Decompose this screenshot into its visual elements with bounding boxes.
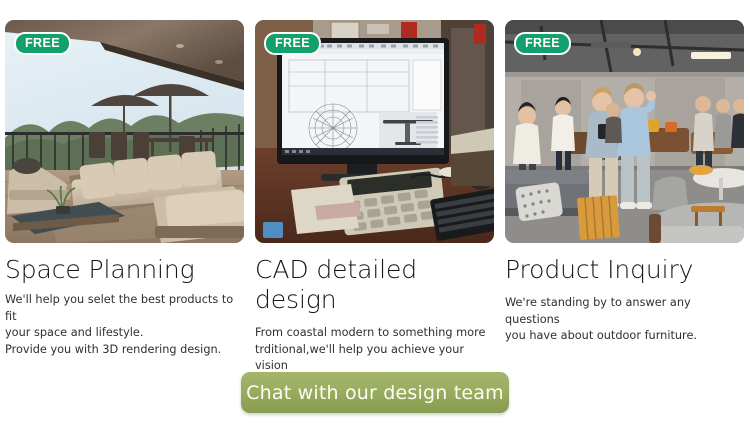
badge-free: FREE xyxy=(514,32,571,55)
card-title: Space Planning xyxy=(5,255,244,285)
cta-container: Chat with our design team xyxy=(0,372,750,413)
card-description-line: From coastal modern to something more xyxy=(255,325,494,342)
service-card-cad-design[interactable]: FREE CAD detailed design From coastal mo… xyxy=(255,20,494,375)
card-description: We're standing by to answer any question… xyxy=(505,295,744,345)
card-description: We'll help you selet the best products t… xyxy=(5,292,244,358)
chat-with-design-team-button[interactable]: Chat with our design team xyxy=(241,372,509,413)
card-image-cad-design: FREE xyxy=(255,20,494,243)
service-card-space-planning[interactable]: FREE Space Planning We'll help you selet… xyxy=(5,20,244,375)
card-image-space-planning: FREE xyxy=(5,20,244,243)
card-description-line: trditional,we'll help you achieve your v… xyxy=(255,342,494,375)
card-description-line: you have about outdoor furniture. xyxy=(505,328,744,345)
card-description-line: We'll help you selet the best products t… xyxy=(5,292,244,325)
card-description-line: Provide you with 3D rendering design. xyxy=(5,342,244,359)
service-cards-row: FREE Space Planning We'll help you selet… xyxy=(5,20,745,375)
badge-free: FREE xyxy=(264,32,321,55)
card-description-line: your space and lifestyle. xyxy=(5,325,244,342)
card-title: CAD detailed design xyxy=(255,255,494,315)
promo-section: FREE Space Planning We'll help you selet… xyxy=(0,0,750,424)
badge-free: FREE xyxy=(14,32,71,55)
service-card-product-inquiry[interactable]: FREE Product Inquiry We're standing by t… xyxy=(505,20,744,375)
card-title: Product Inquiry xyxy=(505,255,744,285)
card-description: From coastal modern to something more tr… xyxy=(255,325,494,375)
card-image-product-inquiry: FREE xyxy=(505,20,744,243)
card-description-line: We're standing by to answer any question… xyxy=(505,295,744,328)
